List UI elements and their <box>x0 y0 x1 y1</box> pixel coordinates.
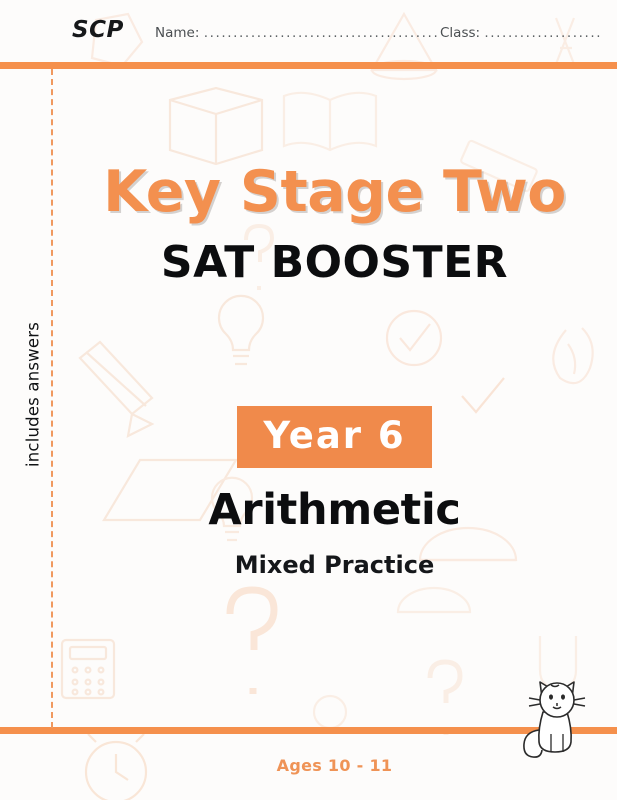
name-label: Name: <box>155 25 199 41</box>
includes-answers-label: includes answers <box>24 300 43 490</box>
subject-title: Arithmetic <box>52 489 617 532</box>
class-dotted-line: .................... <box>484 25 602 41</box>
header-divider-rule <box>0 62 617 69</box>
year-badge: Year 6 <box>237 406 431 468</box>
page-header: SCP Name: ..............................… <box>0 0 617 62</box>
class-label: Class: <box>440 25 480 41</box>
name-field[interactable]: Name: ..................................… <box>155 25 439 41</box>
cover-main-block: Key Stage Two SAT BOOSTER Year 6 Arithme… <box>52 69 617 727</box>
name-dotted-line: ........................................ <box>204 25 440 41</box>
year-badge-container: Year 6 <box>52 406 617 468</box>
publisher-logo: SCP <box>72 17 124 43</box>
class-field[interactable]: Class: .................... <box>440 25 602 41</box>
worksheet-cover-page: SCP Name: ..............................… <box>0 0 617 800</box>
series-title: SAT BOOSTER <box>52 241 617 285</box>
key-stage-title: Key Stage Two <box>52 164 617 221</box>
cat-illustration <box>519 676 591 758</box>
age-range-label: Ages 10 - 11 <box>52 756 617 775</box>
subject-subtitle: Mixed Practice <box>52 553 617 577</box>
